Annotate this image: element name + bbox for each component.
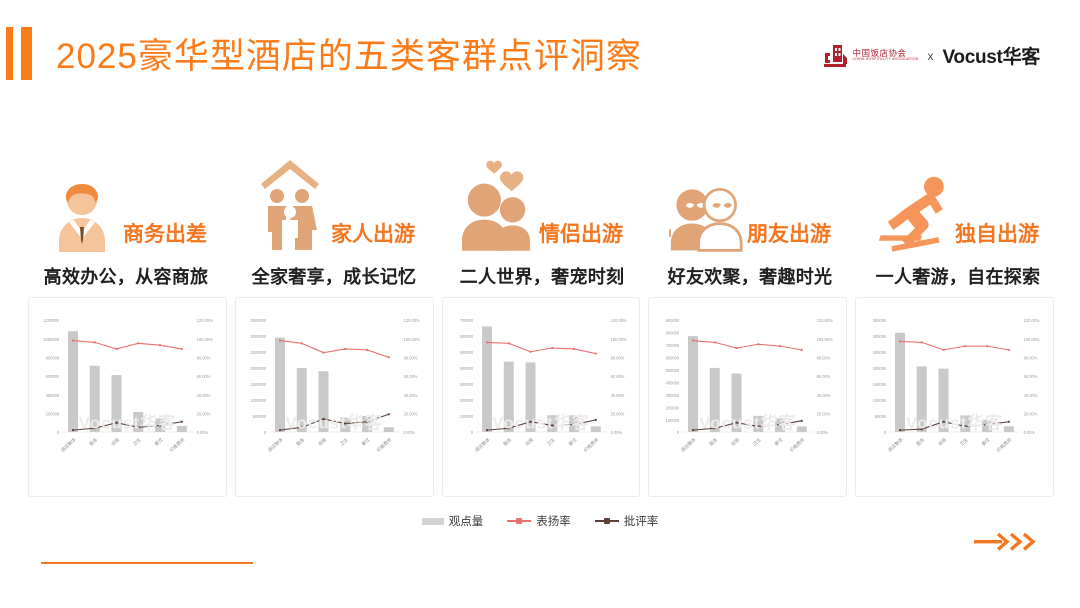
svg-text:600000: 600000 — [46, 374, 60, 379]
legend-label: 表扬率 — [536, 513, 571, 529]
svg-text:60.00%: 60.00% — [403, 374, 417, 379]
svg-text:200000: 200000 — [873, 366, 887, 371]
svg-text:服务: 服务 — [708, 436, 720, 448]
skier-icon — [877, 144, 951, 254]
persona-family: 家人出游 全家奢享，成长记忆 — [230, 134, 438, 289]
svg-text:100.00%: 100.00% — [1024, 337, 1040, 342]
svg-text:价格费用: 价格费用 — [375, 436, 393, 454]
svg-text:80.00%: 80.00% — [1024, 355, 1038, 360]
svg-text:酒店整体: 酒店整体 — [887, 436, 905, 454]
legend-line-swatch-criticism — [595, 516, 619, 526]
chart-svg: 0100000200000300000400000500000600000700… — [649, 298, 846, 496]
persona-name: 家人出游 — [331, 218, 415, 254]
svg-text:100000: 100000 — [459, 414, 473, 419]
svg-text:0.00%: 0.00% — [403, 430, 415, 435]
footer-rule — [41, 562, 253, 564]
svg-text:200000: 200000 — [459, 398, 473, 403]
svg-text:300000: 300000 — [459, 382, 473, 387]
svg-text:餐饮: 餐饮 — [360, 436, 372, 448]
svg-text:餐饮: 餐饮 — [567, 436, 579, 448]
friends-icon — [669, 144, 743, 254]
svg-text:60.00%: 60.00% — [610, 374, 624, 379]
title-accent-bars — [6, 27, 32, 80]
chart-card-solo: 0500001000001500002000002500003000003500… — [855, 297, 1054, 497]
persona-friends: 朋友出游 好友欢聚，奢趣时光 — [646, 134, 854, 289]
svg-text:酒店整体: 酒店整体 — [473, 436, 491, 454]
svg-text:40.00%: 40.00% — [610, 393, 624, 398]
svg-text:0.00%: 0.00% — [1024, 430, 1036, 435]
svg-text:800000: 800000 — [46, 355, 60, 360]
svg-text:20.00%: 20.00% — [817, 411, 831, 416]
persona-subtitle: 二人世界，奢宠时刻 — [460, 263, 625, 289]
svg-text:3000000: 3000000 — [250, 334, 267, 339]
persona-subtitle: 好友欢聚，奢趣时光 — [668, 263, 833, 289]
svg-text:400000: 400000 — [459, 366, 473, 371]
svg-text:60.00%: 60.00% — [817, 374, 831, 379]
businessman-icon — [45, 144, 119, 254]
svg-text:价格费用: 价格费用 — [789, 436, 807, 454]
cha-building-icon — [823, 43, 849, 69]
svg-text:100.00%: 100.00% — [197, 337, 213, 342]
persona-name: 商务出差 — [123, 218, 207, 254]
svg-text:80.00%: 80.00% — [610, 355, 624, 360]
svg-text:80.00%: 80.00% — [197, 355, 211, 360]
svg-text:100.00%: 100.00% — [817, 337, 833, 342]
persona-business: 商务出差 高效办公，从容商旅 — [22, 134, 230, 289]
svg-text:100000: 100000 — [873, 398, 887, 403]
persona-name: 情侣出游 — [539, 218, 623, 254]
svg-text:120.00%: 120.00% — [610, 318, 626, 323]
svg-text:0: 0 — [57, 430, 60, 435]
page-title: 2025豪华型酒店的五类客群点评洞察 — [56, 36, 642, 78]
svg-text:设施: 设施 — [316, 436, 328, 448]
svg-text:300000: 300000 — [666, 393, 680, 398]
svg-text:0.00%: 0.00% — [610, 430, 622, 435]
svg-text:设施: 设施 — [523, 436, 535, 448]
page-header: 2025豪华型酒店的五类客群点评洞察 中国饭店协会 CHINA HOSPITAL… — [0, 0, 1080, 105]
svg-text:设施: 设施 — [109, 436, 121, 448]
svg-text:0: 0 — [264, 430, 267, 435]
chart-svg: 0200000400000600000800000100000012000000… — [29, 298, 226, 496]
svg-text:700000: 700000 — [666, 343, 680, 348]
persona-subtitle: 高效办公，从容商旅 — [44, 263, 209, 289]
chart-card-business: 0200000400000600000800000100000012000000… — [28, 297, 227, 497]
chart-card-family: 0500000100000015000002000000250000030000… — [235, 297, 434, 497]
persona-name: 朋友出游 — [747, 218, 831, 254]
svg-text:600000: 600000 — [666, 355, 680, 360]
chart-svg: 0500001000001500002000002500003000003500… — [856, 298, 1053, 496]
couple-hearts-icon — [461, 144, 535, 254]
svg-text:400000: 400000 — [666, 380, 680, 385]
svg-text:1200000: 1200000 — [43, 318, 60, 323]
svg-text:20.00%: 20.00% — [610, 411, 624, 416]
svg-text:60.00%: 60.00% — [1024, 374, 1038, 379]
svg-text:1000000: 1000000 — [250, 398, 267, 403]
svg-text:20.00%: 20.00% — [197, 411, 211, 416]
svg-text:卫生: 卫生 — [958, 436, 969, 447]
legend-item-praise: 表扬率 — [507, 513, 571, 529]
persona-row: 商务出差 高效办公，从容商旅 家人出游 全家奢享，成长记忆 — [22, 134, 1062, 289]
svg-text:卫生: 卫生 — [545, 436, 556, 447]
svg-text:120.00%: 120.00% — [817, 318, 833, 323]
svg-text:500000: 500000 — [459, 350, 473, 355]
chart-svg: 0500000100000015000002000000250000030000… — [236, 298, 433, 496]
legend-line-swatch-praise — [507, 516, 531, 526]
svg-text:120.00%: 120.00% — [403, 318, 419, 323]
persona-subtitle: 一人奢游，自在探索 — [876, 263, 1041, 289]
svg-text:1500000: 1500000 — [250, 382, 267, 387]
chart-legend: 观点量 表扬率 批评率 — [0, 513, 1080, 529]
svg-text:服务: 服务 — [88, 436, 100, 448]
svg-text:20.00%: 20.00% — [1024, 411, 1038, 416]
svg-text:卫生: 卫生 — [752, 436, 763, 447]
svg-text:价格费用: 价格费用 — [582, 436, 600, 454]
svg-text:40.00%: 40.00% — [197, 393, 211, 398]
svg-text:200000: 200000 — [46, 411, 60, 416]
svg-text:40.00%: 40.00% — [817, 393, 831, 398]
svg-text:价格费用: 价格费用 — [168, 436, 186, 454]
svg-text:服务: 服务 — [915, 436, 927, 448]
svg-text:500000: 500000 — [666, 368, 680, 373]
svg-text:60.00%: 60.00% — [197, 374, 211, 379]
svg-text:酒店整体: 酒店整体 — [266, 436, 284, 454]
svg-text:酒店整体: 酒店整体 — [59, 436, 77, 454]
svg-text:3500000: 3500000 — [250, 318, 267, 323]
svg-text:400000: 400000 — [46, 393, 60, 398]
svg-text:0.00%: 0.00% — [197, 430, 209, 435]
persona-solo: 独自出游 一人奢游，自在探索 — [854, 134, 1062, 289]
brand-lockup: 中国饭店协会 CHINA HOSPITALITY ASSOCIATION x V… — [823, 42, 1040, 69]
svg-text:酒店整体: 酒店整体 — [680, 436, 698, 454]
svg-text:100000: 100000 — [666, 418, 680, 423]
persona-couple: 情侣出游 二人世界，奢宠时刻 — [438, 134, 646, 289]
svg-text:100.00%: 100.00% — [403, 337, 419, 342]
legend-label: 观点量 — [449, 513, 484, 529]
svg-text:餐饮: 餐饮 — [980, 436, 992, 448]
svg-text:150000: 150000 — [873, 382, 887, 387]
svg-text:0: 0 — [677, 430, 680, 435]
svg-text:0: 0 — [884, 430, 887, 435]
svg-text:卫生: 卫生 — [338, 436, 349, 447]
chart-card-couple: 0100000200000300000400000500000600000700… — [442, 297, 641, 497]
svg-text:600000: 600000 — [459, 334, 473, 339]
svg-text:120.00%: 120.00% — [1024, 318, 1040, 323]
svg-text:40.00%: 40.00% — [1024, 393, 1038, 398]
svg-text:设施: 设施 — [730, 436, 742, 448]
next-arrow-icon[interactable] — [972, 527, 1038, 557]
brand-separator: x — [927, 49, 933, 63]
svg-text:2500000: 2500000 — [250, 350, 267, 355]
svg-text:餐饮: 餐饮 — [773, 436, 785, 448]
svg-text:0: 0 — [471, 430, 474, 435]
svg-text:350000: 350000 — [873, 318, 887, 323]
svg-text:900000: 900000 — [666, 318, 680, 323]
svg-text:卫生: 卫生 — [131, 436, 142, 447]
svg-text:2000000: 2000000 — [250, 366, 267, 371]
svg-text:设施: 设施 — [937, 436, 949, 448]
association-name-en: CHINA HOSPITALITY ASSOCIATION — [853, 58, 919, 62]
svg-text:服务: 服务 — [501, 436, 513, 448]
svg-text:餐饮: 餐饮 — [153, 436, 165, 448]
svg-text:价格费用: 价格费用 — [995, 436, 1013, 454]
persona-subtitle: 全家奢享，成长记忆 — [252, 263, 417, 289]
svg-text:200000: 200000 — [666, 405, 680, 410]
persona-name: 独自出游 — [955, 218, 1039, 254]
svg-text:700000: 700000 — [459, 318, 473, 323]
china-hospitality-association-logo: 中国饭店协会 CHINA HOSPITALITY ASSOCIATION — [823, 43, 919, 69]
legend-bar-swatch — [422, 518, 444, 525]
legend-item-volume: 观点量 — [422, 513, 484, 529]
legend-label: 批评率 — [624, 513, 659, 529]
svg-text:100.00%: 100.00% — [610, 337, 626, 342]
svg-text:1000000: 1000000 — [43, 337, 60, 342]
svg-text:300000: 300000 — [873, 334, 887, 339]
svg-text:50000: 50000 — [875, 414, 887, 419]
chart-card-friends: 0100000200000300000400000500000600000700… — [648, 297, 847, 497]
svg-text:250000: 250000 — [873, 350, 887, 355]
svg-text:120.00%: 120.00% — [197, 318, 213, 323]
chart-card-row: 0200000400000600000800000100000012000000… — [28, 297, 1054, 497]
chart-svg: 0100000200000300000400000500000600000700… — [443, 298, 640, 496]
legend-item-criticism: 批评率 — [595, 513, 659, 529]
svg-text:0.00%: 0.00% — [817, 430, 829, 435]
svg-text:80.00%: 80.00% — [403, 355, 417, 360]
svg-text:500000: 500000 — [252, 414, 266, 419]
svg-text:80.00%: 80.00% — [817, 355, 831, 360]
svg-text:服务: 服务 — [295, 436, 307, 448]
svg-text:800000: 800000 — [666, 331, 680, 336]
svg-text:40.00%: 40.00% — [403, 393, 417, 398]
family-house-icon — [253, 144, 327, 254]
svg-text:20.00%: 20.00% — [403, 411, 417, 416]
vocust-logo: Vocust华客 — [942, 42, 1040, 69]
